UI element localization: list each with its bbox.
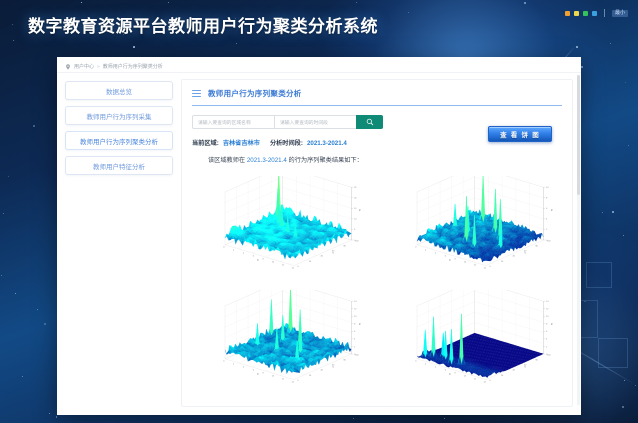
- svg-text:2: 2: [233, 364, 235, 366]
- svg-text:X: X: [257, 373, 259, 376]
- svg-text:14: 14: [291, 267, 294, 269]
- svg-text:40: 40: [320, 256, 323, 258]
- svg-text:20: 20: [309, 375, 312, 377]
- application-window: 数字教育资源平台教师用户行为聚类分析系统 最小 用户中心 » 教师用户行为序列聚…: [0, 0, 638, 423]
- breadcrumb-separator: »: [97, 64, 100, 70]
- period-value: 2021.3-2021.4: [307, 140, 347, 147]
- scrollbar-thumb[interactable]: [577, 75, 580, 195]
- window-dot-1[interactable]: [565, 11, 570, 16]
- result-description: 该区域教师在 2021.3-2021.4 的行为序列聚类结果如下：: [208, 155, 562, 164]
- svg-text:4: 4: [243, 253, 245, 255]
- breadcrumb: 用户中心 » 教师用户行为序列聚类分析: [57, 57, 581, 73]
- location-pin-icon: [65, 64, 71, 70]
- svg-text:100: 100: [355, 354, 359, 356]
- region-search-input[interactable]: 请输入要查询的区域名称: [192, 115, 274, 129]
- svg-text:80: 80: [343, 359, 346, 361]
- svg-text:15: 15: [354, 208, 357, 210]
- page-title: 数字教育资源平台教师用户行为聚类分析系统: [28, 12, 378, 37]
- period-search-input[interactable]: 请输入要查询的时间段: [274, 115, 356, 129]
- main-panel: 教师用户行为序列聚类分析 请输入要查询的区域名称 请输入要查询的时间段: [181, 79, 573, 407]
- svg-text:2: 2: [425, 250, 427, 252]
- svg-text:6: 6: [253, 256, 255, 258]
- svg-text:12: 12: [354, 309, 357, 311]
- panel-header: 教师用户行为序列聚类分析: [192, 88, 562, 105]
- svg-text:20: 20: [354, 198, 357, 200]
- hamburger-icon[interactable]: [192, 90, 201, 97]
- sidebar-nav: 数据总览 教师用户行为序列采集 教师用户行为序列聚类分析 教师用户特征分析: [65, 79, 173, 407]
- svg-text:Z: Z: [551, 208, 553, 212]
- svg-text:10: 10: [272, 262, 275, 264]
- search-icon: [366, 118, 374, 126]
- panel-title: 教师用户行为序列聚类分析: [208, 88, 302, 99]
- window-tag-label[interactable]: 最小: [612, 10, 628, 17]
- svg-text:Y: Y: [332, 366, 334, 369]
- svg-text:12: 12: [282, 265, 285, 267]
- svg-text:20: 20: [501, 261, 504, 263]
- window-dot-4[interactable]: [592, 11, 597, 16]
- svg-text:2: 2: [233, 250, 235, 252]
- period-label: 分析时间段:: [270, 138, 303, 147]
- svg-text:Z: Z: [359, 208, 361, 212]
- svg-text:0: 0: [297, 380, 299, 382]
- description-range: 2021.3-2021.4: [247, 157, 287, 164]
- svg-text:10: 10: [272, 376, 275, 378]
- breadcrumb-root[interactable]: 用户中心: [74, 63, 94, 70]
- cluster-chart-3[interactable]: 02468101214X020406080100Y02468101214Z: [186, 290, 376, 402]
- svg-text:4: 4: [243, 367, 245, 369]
- svg-text:0: 0: [489, 266, 491, 268]
- description-prefix: 该区域教师在: [208, 157, 245, 164]
- sidebar-item-label: 教师用户行为序列采集: [87, 111, 152, 121]
- svg-text:6: 6: [253, 370, 255, 372]
- breadcrumb-current: 教师用户行为序列聚类分析: [103, 63, 163, 70]
- svg-text:0: 0: [223, 361, 225, 363]
- svg-text:14: 14: [354, 301, 357, 303]
- sidebar-item-label: 数据总览: [106, 86, 132, 96]
- svg-text:8: 8: [354, 324, 356, 326]
- svg-text:0: 0: [223, 247, 225, 249]
- svg-text:14: 14: [483, 267, 486, 269]
- page-card: 用户中心 » 教师用户行为序列聚类分析 数据总览 教师用户行为序列采集 教师用户…: [57, 57, 581, 415]
- svg-text:8: 8: [546, 198, 548, 200]
- svg-text:25: 25: [354, 187, 357, 189]
- window-controls-divider: [604, 9, 605, 17]
- view-pie-chart-button[interactable]: 查 看 饼 图: [488, 126, 552, 142]
- svg-text:Z: Z: [359, 322, 361, 326]
- svg-text:8: 8: [263, 259, 265, 261]
- sidebar-item-data-overview[interactable]: 数据总览: [65, 81, 173, 100]
- app-header: 数字教育资源平台教师用户行为聚类分析系统 最小: [0, 0, 638, 48]
- svg-text:6: 6: [354, 331, 356, 333]
- description-suffix: 的行为序列聚类结果如下：: [289, 157, 363, 164]
- svg-text:4: 4: [354, 339, 356, 341]
- svg-text:X: X: [257, 259, 259, 262]
- svg-text:12: 12: [474, 265, 477, 267]
- svg-text:X: X: [449, 259, 451, 262]
- sidebar-item-sequence-clustering[interactable]: 教师用户行为序列聚类分析: [65, 131, 173, 150]
- svg-text:0: 0: [415, 247, 417, 249]
- panel-divider: [192, 105, 562, 106]
- window-dot-2[interactable]: [574, 11, 579, 16]
- sidebar-item-label: 教师用户特征分析: [93, 161, 145, 171]
- svg-text:10: 10: [354, 219, 357, 221]
- svg-text:8: 8: [263, 373, 265, 375]
- svg-text:100: 100: [547, 240, 551, 242]
- sidebar-item-feature-analysis[interactable]: 教师用户特征分析: [65, 156, 173, 175]
- svg-text:80: 80: [343, 245, 346, 247]
- window-controls[interactable]: 最小: [565, 9, 628, 17]
- cluster-chart-4[interactable]: 02468101214X020406080100Y02468101214Z: [378, 290, 568, 402]
- window-dot-3[interactable]: [583, 11, 588, 16]
- svg-text:6: 6: [546, 208, 548, 210]
- svg-text:Y: Y: [332, 252, 334, 255]
- svg-text:14: 14: [291, 381, 294, 383]
- svg-text:12: 12: [282, 379, 285, 381]
- svg-text:0: 0: [297, 266, 299, 268]
- page-scrollbar[interactable]: [577, 75, 580, 405]
- svg-text:8: 8: [455, 259, 457, 261]
- svg-text:4: 4: [435, 253, 437, 255]
- region-label: 当前区域:: [192, 138, 219, 147]
- region-value: 吉林省吉林市: [223, 138, 260, 147]
- svg-text:5: 5: [354, 229, 356, 231]
- cluster-chart-1[interactable]: 02468101214X020406080100Y0510152025Z: [186, 176, 376, 288]
- svg-text:6: 6: [445, 256, 447, 258]
- svg-text:100: 100: [355, 240, 359, 242]
- sidebar-item-label: 教师用户行为序列聚类分析: [80, 136, 158, 146]
- sidebar-item-sequence-collection[interactable]: 教师用户行为序列采集: [65, 106, 173, 125]
- svg-text:Y: Y: [524, 252, 526, 255]
- search-button[interactable]: [356, 115, 383, 129]
- svg-text:20: 20: [309, 261, 312, 263]
- svg-text:2: 2: [546, 229, 548, 231]
- svg-text:10: 10: [546, 187, 549, 189]
- svg-text:4: 4: [546, 219, 548, 221]
- svg-text:40: 40: [512, 256, 515, 258]
- svg-text:80: 80: [535, 245, 538, 247]
- svg-text:10: 10: [464, 262, 467, 264]
- cluster-chart-2[interactable]: 02468101214X020406080100Y0246810Z: [378, 176, 568, 288]
- svg-text:2: 2: [354, 346, 356, 348]
- cluster-charts-grid: 02468101214X020406080100Y0510152025Z 024…: [186, 176, 568, 402]
- svg-text:40: 40: [320, 370, 323, 372]
- svg-text:10: 10: [354, 316, 357, 318]
